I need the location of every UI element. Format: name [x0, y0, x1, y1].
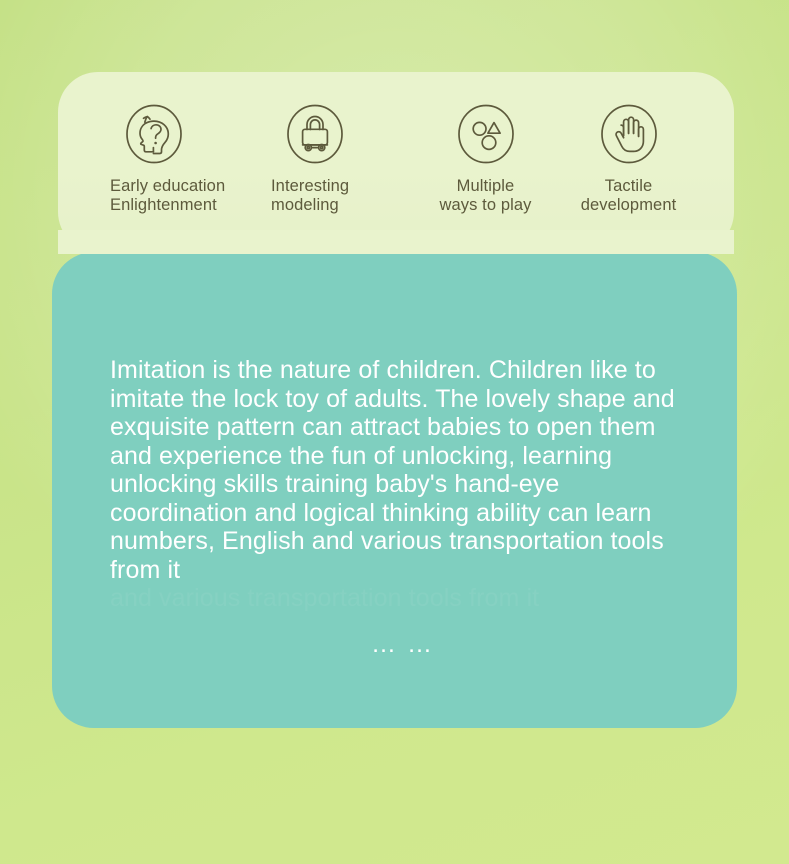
- head-question-mark-icon: [122, 102, 186, 166]
- feature-label: Tactile development: [581, 177, 677, 215]
- feature-item-multiple-ways-to-play[interactable]: Multiple ways to play: [414, 102, 557, 215]
- open-hand-icon: [597, 102, 661, 166]
- description-paragraph: Imitation is the nature of children. Chi…: [110, 356, 695, 584]
- description-body: Imitation is the nature of children. Chi…: [110, 356, 695, 613]
- card-overlap-filler: [58, 230, 734, 254]
- product-feature-panel: Early education Enlightenment: [0, 0, 789, 864]
- shapes-circle-triangle-icon: [454, 102, 518, 166]
- description-card: Imitation is the nature of children. Chi…: [52, 252, 737, 728]
- description-ghost-line: and various transportation tools from it: [110, 584, 695, 613]
- lock-on-wheels-icon: [283, 102, 347, 166]
- feature-label: Interesting modeling: [271, 177, 349, 215]
- feature-item-early-education[interactable]: Early education Enlightenment: [92, 102, 253, 215]
- feature-label: Early education Enlightenment: [110, 177, 225, 215]
- feature-list: Early education Enlightenment: [58, 72, 734, 252]
- description-ellipsis: … …: [110, 630, 695, 658]
- feature-item-tactile-development[interactable]: Tactile development: [557, 102, 700, 215]
- feature-label: Multiple ways to play: [440, 177, 532, 215]
- feature-item-interesting-modeling[interactable]: Interesting modeling: [253, 102, 414, 215]
- feature-card: Early education Enlightenment: [58, 72, 734, 252]
